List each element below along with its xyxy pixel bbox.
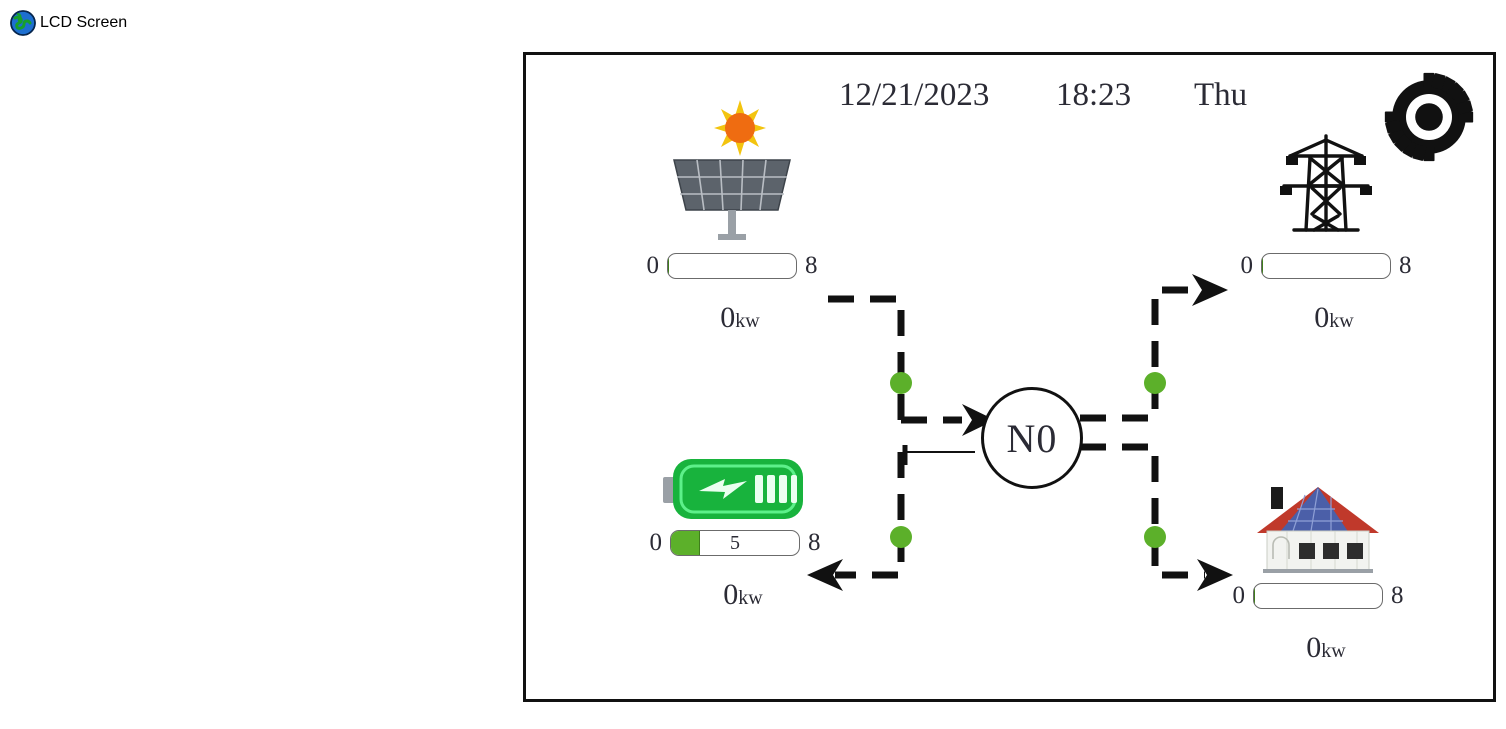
solar-power-readout: 0kw <box>617 283 847 353</box>
house-meter[interactable]: 0 8 <box>1203 582 1433 610</box>
grid-power-value: 0 <box>1314 301 1329 334</box>
house-icon <box>1253 473 1383 578</box>
battery-icon-group <box>620 445 850 525</box>
page-header: LCD Screen <box>10 10 127 36</box>
battery-power-unit: kw <box>738 587 762 609</box>
status-weekday: Thu <box>1194 77 1247 114</box>
center-node-label: N0 <box>1007 415 1058 462</box>
grid-power-readout: 0kw <box>1211 283 1441 353</box>
grid-meter[interactable]: 0 8 <box>1211 252 1441 280</box>
battery-meter-value: 5 <box>671 531 799 555</box>
transmission-tower-icon <box>1266 130 1386 248</box>
node-solar[interactable]: 0 8 0kw <box>617 130 847 353</box>
solar-meter-bar[interactable] <box>667 253 797 279</box>
house-meter-value <box>1254 584 1382 608</box>
battery-meter-min: 0 <box>650 529 663 557</box>
solar-meter-value <box>668 254 796 278</box>
solar-meter[interactable]: 0 8 <box>617 252 847 280</box>
house-meter-max: 8 <box>1391 582 1404 610</box>
solar-power-value: 0 <box>720 301 735 334</box>
grid-power-unit: kw <box>1329 310 1353 332</box>
node-house[interactable]: 0 8 0kw <box>1203 470 1433 683</box>
sun-icon <box>714 100 766 156</box>
solar-power-unit: kw <box>735 310 759 332</box>
grid-meter-value <box>1262 254 1390 278</box>
battery-meter[interactable]: 0 5 8 <box>620 529 850 557</box>
house-meter-bar[interactable] <box>1253 583 1383 609</box>
battery-power-value: 0 <box>723 578 738 611</box>
solar-panel-icon <box>674 160 790 240</box>
globe-icon <box>10 10 36 36</box>
battery-meter-max: 8 <box>808 529 821 557</box>
grid-meter-max: 8 <box>1399 252 1412 280</box>
tower-icon-group <box>1211 130 1441 248</box>
page-title: LCD Screen <box>40 14 127 32</box>
house-meter-min: 0 <box>1233 582 1246 610</box>
battery-power-readout: 0kw <box>620 560 850 630</box>
solar-icon-group <box>617 130 847 248</box>
status-time: 18:23 <box>1056 77 1131 114</box>
house-power-readout: 0kw <box>1203 613 1433 683</box>
node-battery[interactable]: 0 5 8 0kw <box>620 445 850 630</box>
center-node[interactable]: N0 <box>981 387 1083 489</box>
house-power-value: 0 <box>1306 631 1321 664</box>
house-icon-group <box>1203 470 1433 578</box>
node-grid[interactable]: 0 8 0kw <box>1211 130 1441 353</box>
grid-meter-bar[interactable] <box>1261 253 1391 279</box>
house-power-unit: kw <box>1321 640 1345 662</box>
battery-meter-bar[interactable]: 5 <box>670 530 800 556</box>
solar-meter-max: 8 <box>805 252 818 280</box>
battery-icon <box>663 453 808 525</box>
grid-meter-min: 0 <box>1241 252 1254 280</box>
status-date: 12/21/2023 <box>839 77 989 114</box>
solar-meter-min: 0 <box>647 252 660 280</box>
